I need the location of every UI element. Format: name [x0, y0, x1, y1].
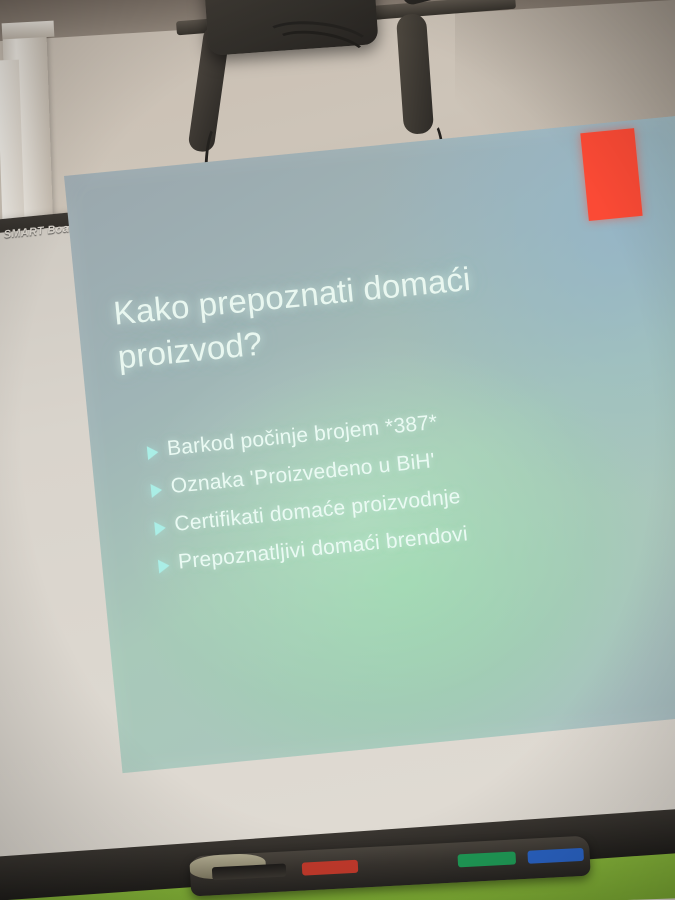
green-pen[interactable]	[457, 851, 516, 867]
triangle-bullet-icon	[154, 521, 166, 536]
triangle-bullet-icon	[150, 483, 162, 498]
red-pen[interactable]	[302, 860, 359, 876]
pen-tray-empty-slot[interactable]	[212, 863, 287, 880]
classroom-scene: SMART Board Kako prepoznati domaći proiz…	[0, 0, 675, 900]
triangle-bullet-icon	[158, 559, 170, 574]
projected-slide: Kako prepoznati domaći proizvod? Barkod …	[64, 115, 675, 773]
cable-trunk-cap	[2, 21, 55, 40]
blue-pen[interactable]	[527, 848, 584, 864]
accent-rectangle	[580, 128, 642, 221]
slide-title: Kako prepoznati domaći proizvod?	[112, 246, 588, 379]
triangle-bullet-icon	[147, 445, 159, 460]
slide-bullet-list: Barkod počinje brojem *387* Oznaka 'Proi…	[146, 390, 659, 591]
